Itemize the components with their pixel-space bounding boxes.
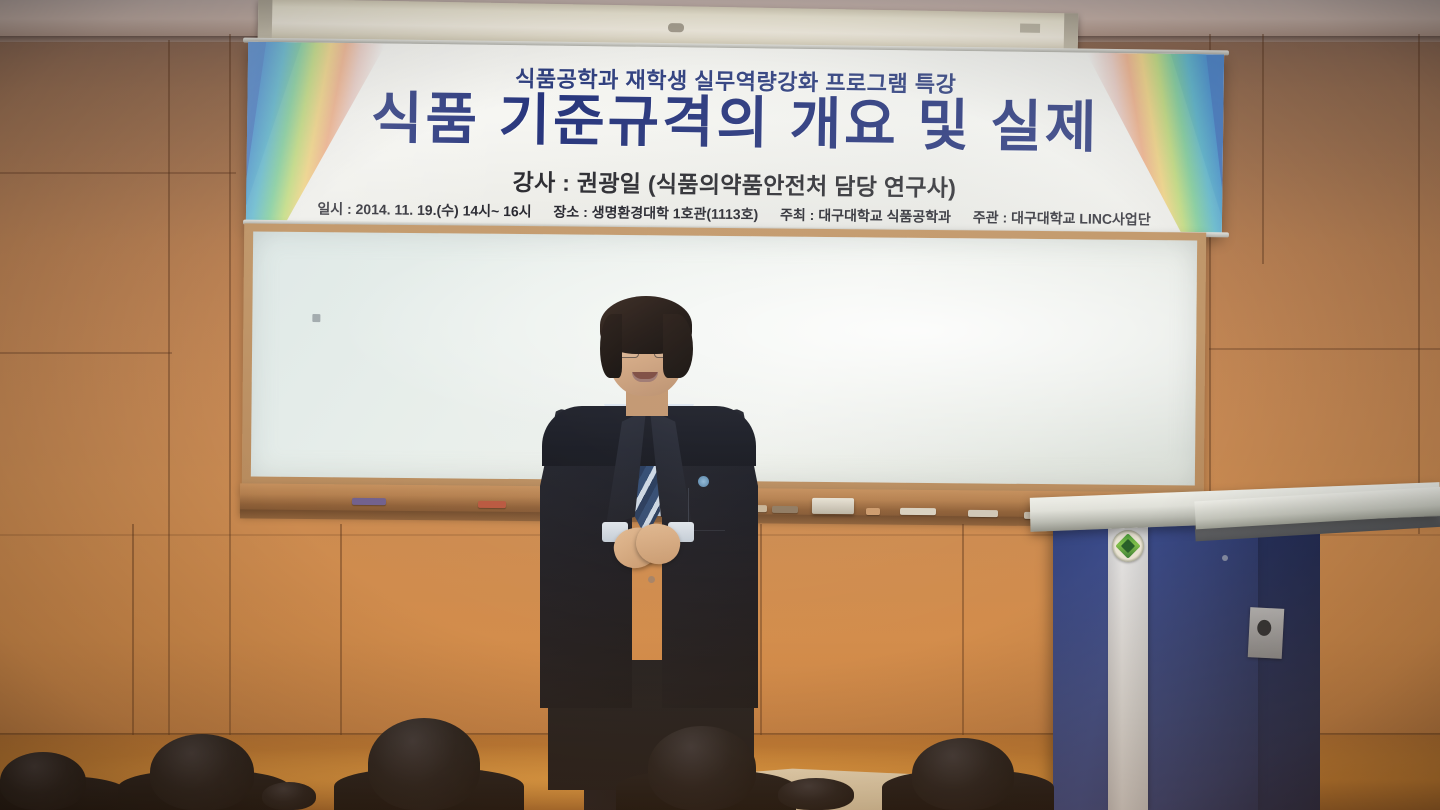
banner-meta-host: 주최 : 대구대학교 식품공학과 (780, 207, 951, 225)
wall-seam (168, 40, 170, 800)
lecture-hall-photo: 식품공학과 재학생 실무역량강화 프로그램 특강 식품 기준규격의 개요 및 실… (0, 0, 1440, 810)
banner-title-text: 식품 기준규격의 개요 및 실제 (247, 88, 1224, 160)
audience-head (912, 738, 1014, 810)
jack-port (1257, 620, 1272, 637)
wall-seam (0, 352, 172, 354)
whiteboard-magnet (312, 314, 320, 322)
audience-head (262, 782, 316, 810)
audience-head (648, 726, 756, 810)
tray-marker (352, 498, 386, 505)
wall-seam (962, 524, 964, 738)
podium-accent-strip (1108, 527, 1148, 810)
casing-label (1020, 23, 1040, 32)
wall-seam (340, 524, 342, 738)
tray-marker (900, 508, 936, 515)
tray-marker (478, 501, 506, 508)
wall-seam (1418, 34, 1420, 534)
wall-seam (1209, 348, 1440, 350)
audience-head (368, 718, 480, 810)
tray-eraser (812, 498, 854, 514)
casing-end-cap-left (258, 0, 273, 43)
podium-side-panel (1258, 528, 1320, 810)
event-banner: 식품공학과 재학생 실무역량강화 프로그램 특강 식품 기준규격의 개요 및 실… (246, 42, 1224, 237)
speaker-person (520, 288, 780, 810)
wall-seam (0, 172, 236, 174)
wall-seam (1262, 34, 1264, 264)
tray-marker (968, 510, 998, 517)
wall-seam (229, 34, 231, 800)
wall-seam (132, 524, 134, 738)
speaker-jacket-button (648, 576, 655, 583)
university-crest-icon (1112, 530, 1144, 562)
podium-screw (1222, 555, 1228, 561)
podium-body (1053, 516, 1258, 810)
speaker-hands (614, 524, 682, 576)
banner-meta-organizer: 주관 : 대구대학교 LINC사업단 (973, 209, 1151, 227)
banner-meta-place: 장소 : 생명환경대학 1호관(1113호) (553, 204, 758, 223)
banner-meta-datetime: 일시 : 2014. 11. 19.(수) 14시~ 16시 (317, 201, 531, 220)
lapel-pin-icon (698, 476, 709, 487)
audience-head (0, 752, 86, 810)
screen-pull-knob (668, 23, 684, 32)
podium-cable-jack (1248, 607, 1285, 659)
audience-head (150, 734, 254, 810)
audience-head (778, 778, 854, 810)
speaker-hair-side-left (600, 314, 622, 378)
tray-marker (866, 508, 880, 515)
